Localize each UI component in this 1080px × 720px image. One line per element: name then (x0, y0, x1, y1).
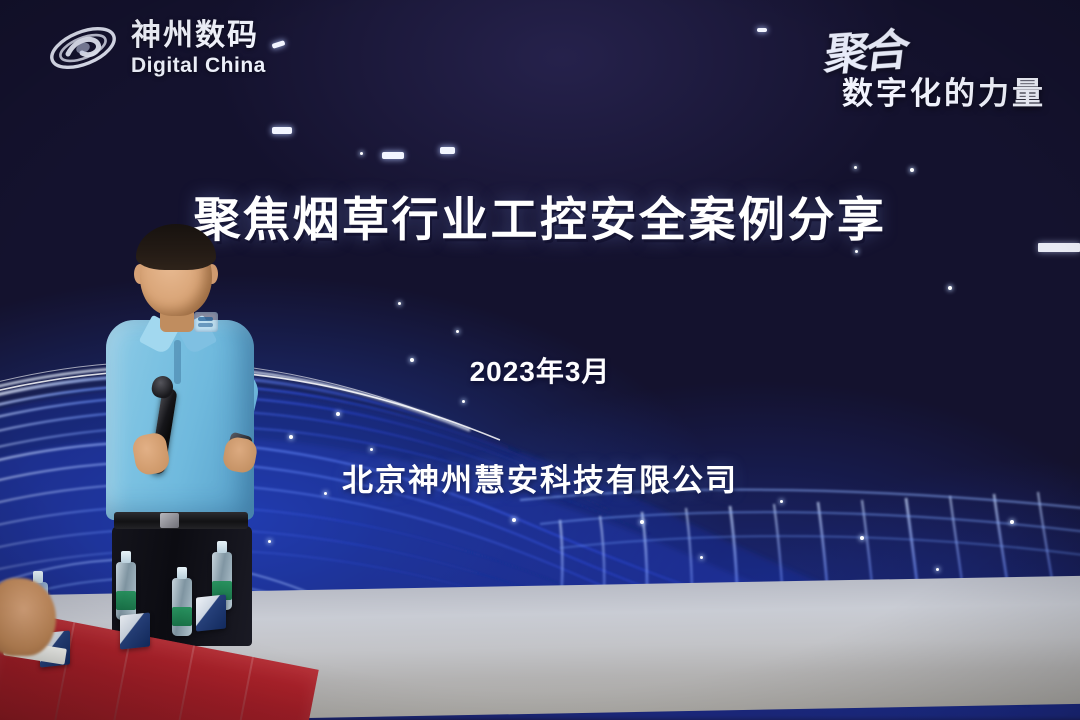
presenter-hair (136, 224, 216, 270)
water-bottle (116, 562, 136, 620)
event-brand-right: 聚合 数字化的力量 (804, 16, 1054, 114)
presenter-belt-buckle (160, 513, 179, 528)
presenter-shirt-logo (194, 312, 218, 332)
digital-china-logo: 神州数码 Digital China (46, 18, 266, 78)
name-placard (120, 612, 150, 649)
event-slogan: 数字化的力量 (842, 68, 1046, 113)
brand-name-en: Digital China (131, 55, 266, 76)
presenter-shirt-placket (174, 340, 181, 384)
brand-name-cn: 神州数码 (131, 21, 266, 51)
presenter-belt (114, 512, 248, 529)
conference-stage-photo: 神州数码 Digital China 聚合 数字化的力量 聚焦烟草行业工控安全案… (0, 0, 1080, 720)
screen-edge-marker (1038, 243, 1080, 252)
digital-china-wordmark: 神州数码 Digital China (131, 21, 266, 76)
digital-china-swirl-icon (46, 18, 120, 78)
water-bottle (172, 578, 192, 636)
name-placard (196, 594, 226, 631)
